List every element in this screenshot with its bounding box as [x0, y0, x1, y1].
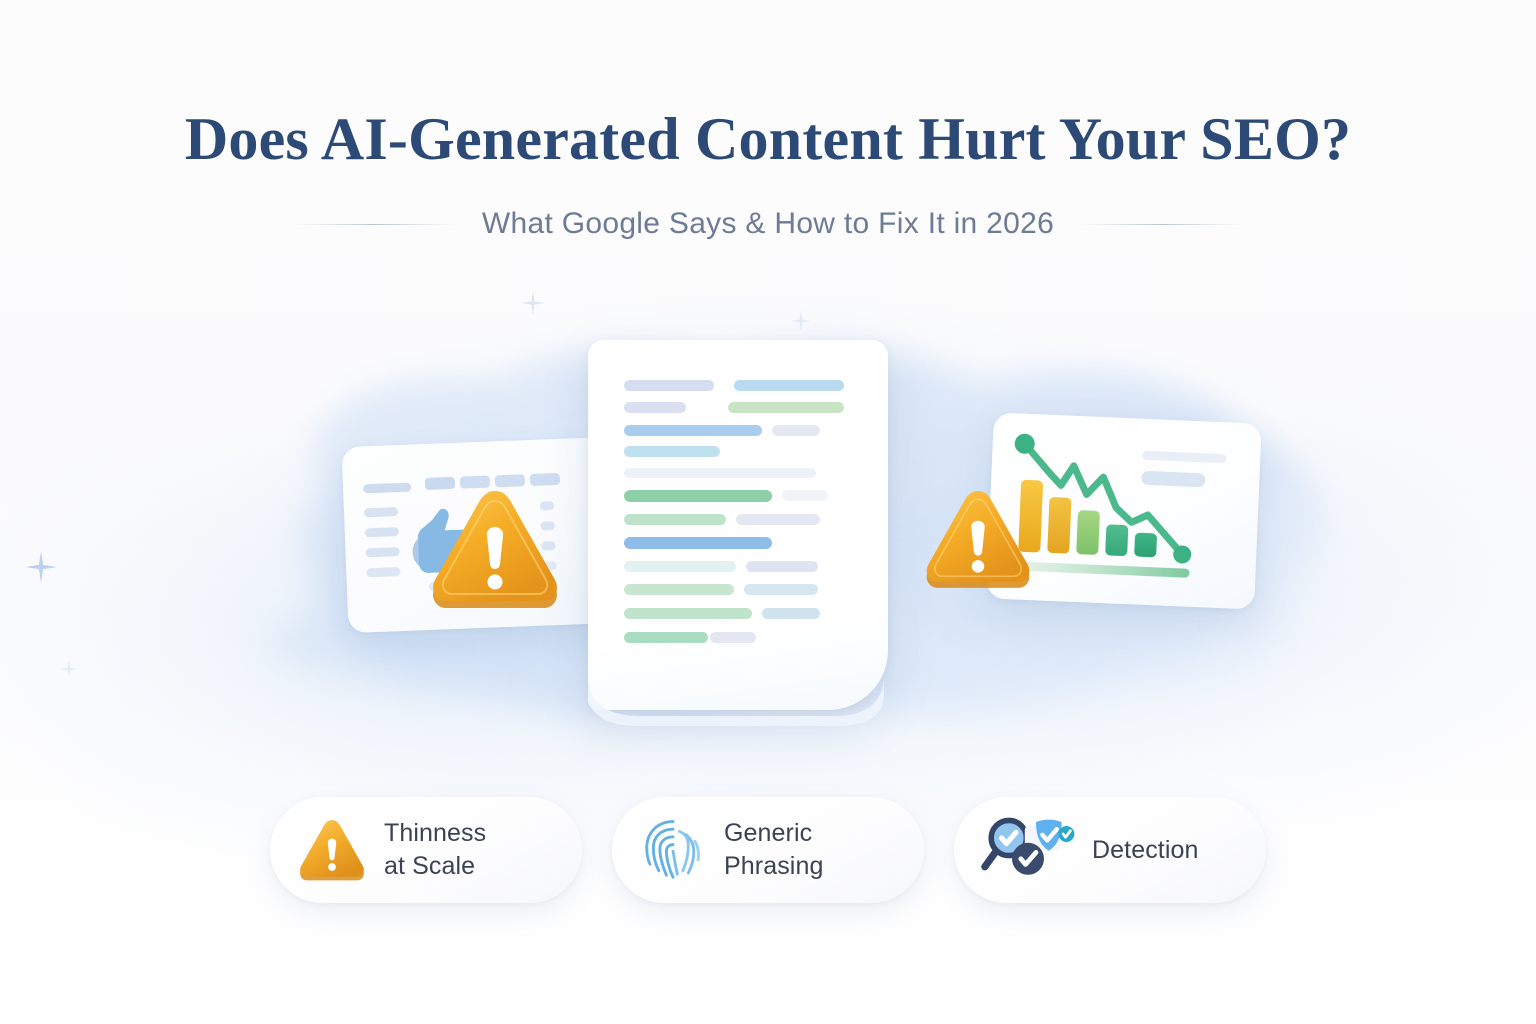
sparkle-icon — [24, 550, 58, 584]
fingerprint-icon — [638, 815, 708, 885]
pill-detection[interactable]: Detection — [954, 797, 1266, 903]
header: Does AI-Generated Content Hurt Your SEO?… — [0, 108, 1536, 241]
hero-illustration — [0, 300, 1536, 770]
pill-label: Detection — [1092, 834, 1199, 867]
page-title: Does AI-Generated Content Hurt Your SEO? — [0, 108, 1536, 171]
ai-article-document — [588, 340, 888, 710]
sparkle-icon — [520, 290, 546, 316]
pill-thinness-at-scale[interactable]: Thinness at Scale — [270, 797, 582, 903]
warning-triangle-icon — [425, 485, 565, 613]
pill-label: Generic Phrasing — [724, 817, 823, 883]
divider-left — [294, 224, 456, 225]
pill-label-line1: Generic — [724, 819, 812, 847]
magnifier-check-icon — [980, 814, 1076, 886]
divider-right — [1080, 224, 1242, 225]
warning-triangle-icon — [296, 817, 368, 883]
pill-label-line2: Phrasing — [724, 850, 823, 883]
subtitle-row: What Google Says & How to Fix It in 2026 — [0, 207, 1536, 241]
subtitle: What Google Says & How to Fix It in 2026 — [482, 207, 1054, 241]
pill-label-line1: Detection — [1092, 836, 1199, 864]
sparkle-icon — [60, 660, 78, 678]
sparkle-icon — [790, 310, 812, 332]
pill-generic-phrasing[interactable]: Generic Phrasing — [612, 797, 924, 903]
document-curl — [584, 676, 894, 726]
pill-label: Thinness at Scale — [384, 817, 486, 883]
pill-label-line2: at Scale — [384, 850, 486, 883]
pill-label-line1: Thinness — [384, 819, 486, 847]
document-text-lines — [588, 340, 888, 710]
warning-triangle-icon — [920, 486, 1036, 592]
key-risk-pills: Thinness at Scale Generic Phrasing — [0, 790, 1536, 910]
sparkle-icon — [1190, 612, 1208, 630]
